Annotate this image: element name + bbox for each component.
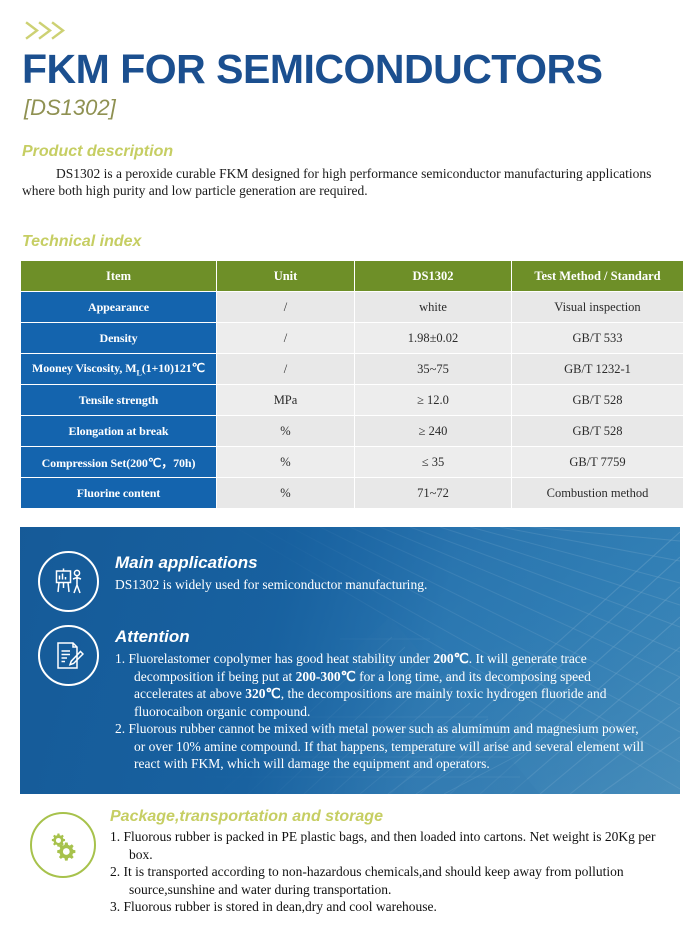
applications-attention-panel: Main applications DS1302 is widely used … xyxy=(20,527,680,794)
cell-value: ≤ 35 xyxy=(355,447,511,477)
cell-item: Compression Set(200℃，70h) xyxy=(21,447,216,477)
column-header-method: Test Method / Standard xyxy=(512,261,683,291)
document-pencil-icon xyxy=(38,625,99,686)
page-title: FKM FOR SEMICONDUCTORS xyxy=(22,46,700,92)
product-code-subtitle: [DS1302] xyxy=(24,94,700,121)
cell-value: 35~75 xyxy=(355,354,511,384)
cell-method: GB/T 528 xyxy=(512,416,683,446)
product-description-heading: Product description xyxy=(22,143,700,161)
cell-method: GB/T 533 xyxy=(512,323,683,353)
cell-unit: % xyxy=(217,416,354,446)
cell-item: Mooney Viscosity, ML(1+10)121℃ xyxy=(21,354,216,384)
cell-item: Density xyxy=(21,323,216,353)
cell-method: GB/T 528 xyxy=(512,385,683,415)
cell-method: Visual inspection xyxy=(512,292,683,322)
table-row: Appearance/whiteVisual inspection xyxy=(21,292,683,322)
cell-value: 1.98±0.02 xyxy=(355,323,511,353)
column-header-unit: Unit xyxy=(217,261,354,291)
table-row: Elongation at break%≥ 240GB/T 528 xyxy=(21,416,683,446)
cell-method: Combustion method xyxy=(512,478,683,508)
cell-method: GB/T 7759 xyxy=(512,447,683,477)
technical-index-table: Item Unit DS1302 Test Method / Standard … xyxy=(20,260,684,509)
package-heading: Package,transportation and storage xyxy=(110,808,681,826)
technical-index-heading: Technical index xyxy=(22,233,700,251)
cell-item: Tensile strength xyxy=(21,385,216,415)
cell-value: 71~72 xyxy=(355,478,511,508)
cell-value: ≥ 240 xyxy=(355,416,511,446)
page-header: FKM FOR SEMICONDUCTORS [DS1302] xyxy=(0,0,700,121)
attention-heading: Attention xyxy=(115,627,649,647)
cell-unit: / xyxy=(217,354,354,384)
table-row: Compression Set(200℃，70h)%≤ 35GB/T 7759 xyxy=(21,447,683,477)
table-header-row: Item Unit DS1302 Test Method / Standard xyxy=(21,261,683,291)
cell-unit: % xyxy=(217,478,354,508)
main-applications-heading: Main applications xyxy=(115,553,427,573)
package-block: Package,transportation and storage Fluor… xyxy=(22,808,700,916)
cell-item: Elongation at break xyxy=(21,416,216,446)
attention-list: Fluorelastomer copolymer has good heat s… xyxy=(115,650,649,773)
attention-item: Fluorelastomer copolymer has good heat s… xyxy=(115,650,649,720)
gears-icon xyxy=(30,812,96,878)
column-header-item: Item xyxy=(21,261,216,291)
cell-item: Appearance xyxy=(21,292,216,322)
cell-method: GB/T 1232-1 xyxy=(512,354,683,384)
cell-unit: % xyxy=(217,447,354,477)
package-item: Fluorous rubber is stored in dean,dry an… xyxy=(110,898,681,916)
cell-unit: MPa xyxy=(217,385,354,415)
table-row: Density/1.98±0.02GB/T 533 xyxy=(21,323,683,353)
double-chevron-right-icon xyxy=(24,18,700,44)
attention-item: Fluorous rubber cannot be mixed with met… xyxy=(115,720,649,773)
main-applications-block: Main applications DS1302 is widely used … xyxy=(20,527,680,612)
attention-block: Attention Fluorelastomer copolymer has g… xyxy=(20,612,680,773)
cell-value: ≥ 12.0 xyxy=(355,385,511,415)
table-row: Tensile strengthMPa≥ 12.0GB/T 528 xyxy=(21,385,683,415)
product-description-body: DS1302 is a peroxide curable FKM designe… xyxy=(22,166,651,198)
cell-unit: / xyxy=(217,292,354,322)
cell-unit: / xyxy=(217,323,354,353)
main-applications-text: DS1302 is widely used for semiconductor … xyxy=(115,576,427,593)
package-list: Fluorous rubber is packed in PE plastic … xyxy=(110,828,681,916)
cell-value: white xyxy=(355,292,511,322)
table-row: Mooney Viscosity, ML(1+10)121℃/35~75GB/T… xyxy=(21,354,683,384)
package-item: Fluorous rubber is packed in PE plastic … xyxy=(110,828,681,863)
product-description-text: DS1302 is a peroxide curable FKM designe… xyxy=(22,165,678,199)
presentation-board-person-icon xyxy=(38,551,99,612)
table-row: Fluorine content%71~72Combustion method xyxy=(21,478,683,508)
column-header-ds1302: DS1302 xyxy=(355,261,511,291)
package-item: It is transported according to non-hazar… xyxy=(110,863,681,898)
cell-item: Fluorine content xyxy=(21,478,216,508)
